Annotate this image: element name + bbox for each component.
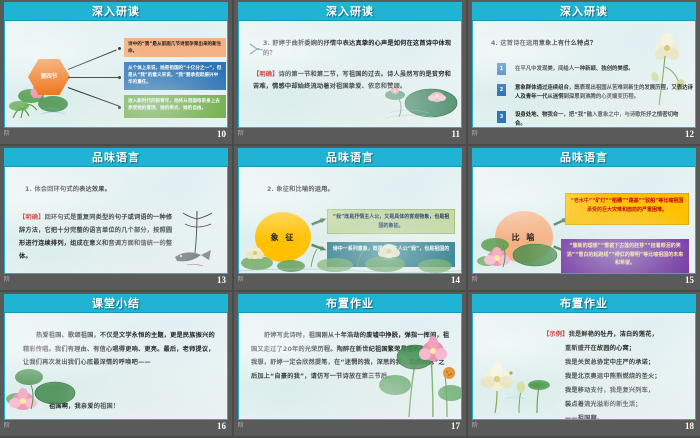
lotus-illustration xyxy=(475,351,573,415)
slide-footer: 阶 16 xyxy=(0,420,232,436)
example-text-1: 我是鲜艳的牡丹，洁白的莲花， xyxy=(569,331,658,338)
footer-label: 阶 xyxy=(472,277,478,283)
slide-title-bar: 深入研读 xyxy=(4,2,228,21)
arrow-2 xyxy=(311,242,328,252)
slide-footer: 阶 14 xyxy=(234,274,466,290)
page-number: 13 xyxy=(217,275,226,285)
slide-title: 布置作业 xyxy=(326,298,374,309)
slide-title-bar: 布置作业 xyxy=(238,294,462,313)
summary-closing: 祖国啊，我亲爱的祖国！ xyxy=(23,401,219,413)
question-text: 1. 体会回环句式的表达效果。 xyxy=(25,185,205,195)
slide-footer: 阶 17 xyxy=(234,420,466,436)
slide-canvas-16: 课堂小结 热爱祖国、歌颂祖国，不仅是文学永恒的主题，更是民族振兴的精彩传唱。我们… xyxy=(4,294,228,420)
slide-canvas-11: 深入研读 3. 舒婷于曲折委婉的抒情中表达真挚的心声是如何在这首诗中体现的？ 【… xyxy=(238,2,462,128)
footer-label: 阶 xyxy=(4,131,10,137)
slide-title-bar: 品味语言 xyxy=(238,148,462,167)
slide-title: 深入研读 xyxy=(326,6,374,17)
page-number: 16 xyxy=(217,421,226,431)
slide-footer: 阶 15 xyxy=(468,274,700,290)
footer-label: 阶 xyxy=(238,277,244,283)
connector-dot-2 xyxy=(118,76,121,79)
connector-dot-3 xyxy=(118,106,121,109)
answer-text: 【明确】回环句式是重复同类型的句子或词语的一种修辞方法，它把十分完整的语言单位的… xyxy=(19,211,177,263)
callout-box-2: 从个体上来说，她是祖国的“十亿分之一”，但是从“我”的意义来说，“我”要承担起振… xyxy=(124,62,226,90)
hexagon-node: 第四节 xyxy=(28,59,70,95)
slide-canvas-18: 布置作业 【示例】我是鲜艳的牡丹，洁白的莲花， 重新盛开在故园的心窝； 我是关贸… xyxy=(472,294,696,420)
example-line-5: 我是移动支付，我是复兴列车， xyxy=(565,385,695,397)
slide-footer: 阶 18 xyxy=(468,420,700,436)
slide-canvas-14: 品味语言 2. 象征和比喻的运用。 象 征 “我”既是抒情主人公，又是具体的客观… xyxy=(238,148,462,274)
slide-title-bar: 深入研读 xyxy=(238,2,462,21)
concept-circle: 比 喻 xyxy=(495,211,553,263)
callout-box-1: 诗中的“我”是从前面几节诗里孕育出来的新生命。 xyxy=(124,38,226,57)
slide-title: 品味语言 xyxy=(92,152,140,163)
concept-circle: 象 征 xyxy=(255,212,311,262)
answer-tag: 【明确】 xyxy=(19,214,45,221)
slide-canvas-17: 布置作业 舒婷写此诗时，祖国刚从十年浩劫的废墟中挣脱，弹指一挥间，祖国又走过了2… xyxy=(238,294,462,420)
slide-footer: 阶 13 xyxy=(0,274,232,290)
answer-text: 【明确】诗的第一节和第二节，写祖国的过去。诗人虽然写的是贫穷和苦难，情感中却始终… xyxy=(253,69,453,92)
footer-label: 阶 xyxy=(4,423,10,429)
page-number: 14 xyxy=(451,275,460,285)
list-item-text-2: 意象群体通过连续组合，既表现出祖国从苦难到新生的发展历程，又表达诗人及青年一代从… xyxy=(515,84,693,102)
page-number: 11 xyxy=(451,129,460,139)
example-line-1: 【示例】我是鲜艳的牡丹，洁白的莲花， xyxy=(543,329,693,341)
callout-box-3: 进入新时代的新青年，他将从祖国母亲身上去承受她的富饶、她的荣光、她的自由。 xyxy=(124,95,226,118)
slide-content-area: 比 喻 “老水牛”“矿灯”“稻穗”“路基”“驳船”等比喻祖国承受的巨大灾难和面前… xyxy=(472,167,696,274)
page-number: 18 xyxy=(685,421,694,431)
concept-box-1: “我”既是抒情主人公，又是具体的客观物象，也是祖国的象征。 xyxy=(327,209,455,234)
concept-box-1: “老水牛”“矿灯”“稻穗”“路基”“驳船”等比喻祖国承受的巨大灾难和面前的严重困… xyxy=(565,193,689,225)
slide-content-area: 2. 象征和比喻的运用。 象 征 “我”既是抒情主人公，又是具体的客观物象，也是… xyxy=(238,167,462,274)
question-text: 2. 象征和比喻的运用。 xyxy=(267,185,437,195)
question-text: 4. 这首诗在运用意象上有什么特点？ xyxy=(491,39,671,49)
summary-paragraph: 热爱祖国、歌颂祖国，不仅是文学永恒的主题，更是民族振兴的精彩传唱。我们有理由、有… xyxy=(23,329,219,370)
list-item-text-3: 设身处地、物我合一，把“我”融入意象之中，与诗歌所抒之情密切吻合。 xyxy=(515,111,685,128)
connector-dot-1 xyxy=(118,47,121,50)
slide-content-area: 1. 体会回环句式的表达效果。 【明确】回环句式是重复同类型的句子或词语的一种修… xyxy=(4,167,228,274)
example-line-6: 装点着流光溢彩的新生活； xyxy=(565,399,695,411)
footer-label: 阶 xyxy=(238,423,244,429)
slide-footer: 阶 10 xyxy=(0,128,232,144)
list-badge-2: 2 xyxy=(497,84,506,96)
slide-canvas-10: 深入研读 xyxy=(4,2,228,128)
example-line-4: 我是北京奥运中熊熊燃烧的圣火； xyxy=(565,371,695,383)
slide-thumbnail-12[interactable]: 深入研读 4. 这首诗在运用意象上有什么特点？ xyxy=(468,0,700,144)
slide-thumbnail-17[interactable]: 布置作业 舒婷写此诗时，祖国刚从十年浩劫的废墟中挣脱，弹指一挥间，祖国又走过了2… xyxy=(234,292,466,436)
slide-thumbnail-18[interactable]: 布置作业 【示例】我是鲜艳的牡丹，洁白的莲花， 重新盛开在故园的心窝； 我是关贸… xyxy=(468,292,700,436)
homework-paragraph: 舒婷写此诗时，祖国刚从十年浩劫的废墟中挣脱，弹指一挥间，祖国又走过了20年的光荣… xyxy=(251,329,451,383)
footer-label: 阶 xyxy=(238,131,244,137)
slide-canvas-15: 品味语言 比 喻 “老水牛”“矿灯”“稻穗”“路基”“驳船”等比喻祖国承受的巨大… xyxy=(472,148,696,274)
footer-label: 阶 xyxy=(4,277,10,283)
slide-content-area: 第四节 诗中的“我”是从前面几节诗里孕育出来的新生命。 从个体上来说，她是祖国的… xyxy=(4,21,228,128)
example-line-2: 重新盛开在故园的心窝； xyxy=(565,343,695,355)
example-line-7: ——祖国啊。 xyxy=(565,413,695,420)
slide-title: 品味语言 xyxy=(560,152,608,163)
slide-title: 深入研读 xyxy=(92,6,140,17)
slide-title-bar: 布置作业 xyxy=(472,294,696,313)
arrow-1 xyxy=(311,216,328,227)
slide-title: 课堂小结 xyxy=(92,298,140,309)
slide-title-bar: 品味语言 xyxy=(4,148,228,167)
slide-thumbnail-15[interactable]: 品味语言 比 喻 “老水牛”“矿灯”“稻穗”“路基”“驳船”等比喻祖国承受的巨大… xyxy=(468,146,700,290)
list-badge-1: 1 xyxy=(497,63,506,75)
slide-title: 深入研读 xyxy=(560,6,608,17)
example-tag: 【示例】 xyxy=(543,331,569,338)
slide-title: 品味语言 xyxy=(326,152,374,163)
slide-canvas-13: 品味语言 1. 体会回环句式的表达效果。 【明确】回环句式是重复同类型的句子或词… xyxy=(4,148,228,274)
slide-title-bar: 品味语言 xyxy=(472,148,696,167)
slide-thumbnail-13[interactable]: 品味语言 1. 体会回环句式的表达效果。 【明确】回环句式是重复同类型的句子或词… xyxy=(0,146,232,290)
page-number: 17 xyxy=(451,421,460,431)
footer-label: 阶 xyxy=(472,423,478,429)
page-number: 15 xyxy=(685,275,694,285)
slide-content-area: 4. 这首诗在运用意象上有什么特点？ 1 在平凡中发现美，间给人一种新颖、独创的… xyxy=(472,21,696,128)
connector-line-2 xyxy=(68,77,120,78)
footer-label: 阶 xyxy=(472,131,478,137)
answer-body: 诗的第一节和第二节，写祖国的过去。诗人虽然写的是贫穷和苦难，情感中却始终流动着对… xyxy=(253,71,451,90)
slide-thumbnail-10[interactable]: 深入研读 xyxy=(0,0,232,144)
connector-line-1 xyxy=(68,50,117,70)
question-text: 3. 舒婷于曲折委婉的抒情中表达真挚的心声是如何在这首诗中体现的？ xyxy=(263,39,455,59)
slide-thumbnail-16[interactable]: 课堂小结 热爱祖国、歌颂祖国，不仅是文学永恒的主题，更是民族振兴的精彩传唱。我们… xyxy=(0,292,232,436)
slide-content-area: 舒婷写此诗时，祖国刚从十年浩劫的废墟中挣脱，弹指一挥间，祖国又走过了20年的光荣… xyxy=(238,313,462,420)
slide-content-area: 3. 舒婷于曲折委婉的抒情中表达真挚的心声是如何在这首诗中体现的？ 【明确】诗的… xyxy=(238,21,462,128)
slide-content-area: 【示例】我是鲜艳的牡丹，洁白的莲花， 重新盛开在故园的心窝； 我是关贸总协定中庄… xyxy=(472,313,696,420)
slide-footer: 阶 12 xyxy=(468,128,700,144)
page-number: 12 xyxy=(685,129,694,139)
example-line-3: 我是关贸总协定中庄严的承诺； xyxy=(565,357,695,369)
concept-box-2: 诗中一系列意象，既是抒情主人公“我”，也是祖国的象征。 xyxy=(327,242,455,267)
slide-title: 布置作业 xyxy=(560,298,608,309)
list-item-text-1: 在平凡中发现美，间给人一种新颖、独创的美感。 xyxy=(515,65,685,74)
slide-title-bar: 深入研读 xyxy=(472,2,696,21)
slide-canvas-12: 深入研读 4. 这首诗在运用意象上有什么特点？ xyxy=(472,2,696,128)
connector-line-3 xyxy=(68,87,120,107)
page-number: 10 xyxy=(217,129,226,139)
list-badge-3: 3 xyxy=(497,111,506,123)
slide-thumbnail-14[interactable]: 品味语言 2. 象征和比喻的运用。 象 征 “我”既是抒情主人公，又是具体的客观… xyxy=(234,146,466,290)
slide-thumbnail-grid: 深入研读 xyxy=(0,0,700,438)
slide-title-bar: 课堂小结 xyxy=(4,294,228,313)
slide-thumbnail-11[interactable]: 深入研读 3. 舒婷于曲折委婉的抒情中表达真挚的心声是如何在这首诗中体现的？ 【… xyxy=(234,0,466,144)
slide-content-area: 热爱祖国、歌颂祖国，不仅是文学永恒的主题，更是民族振兴的精彩传唱。我们有理由、有… xyxy=(4,313,228,420)
slide-footer: 阶 11 xyxy=(234,128,466,144)
concept-box-2: “簇新的理想”“雪被下古莲的胚芽”“挂着眼泪的笑涡”“雪白的起跑线”“绯红的黎明… xyxy=(561,239,689,273)
answer-tag: 【明确】 xyxy=(253,71,279,78)
